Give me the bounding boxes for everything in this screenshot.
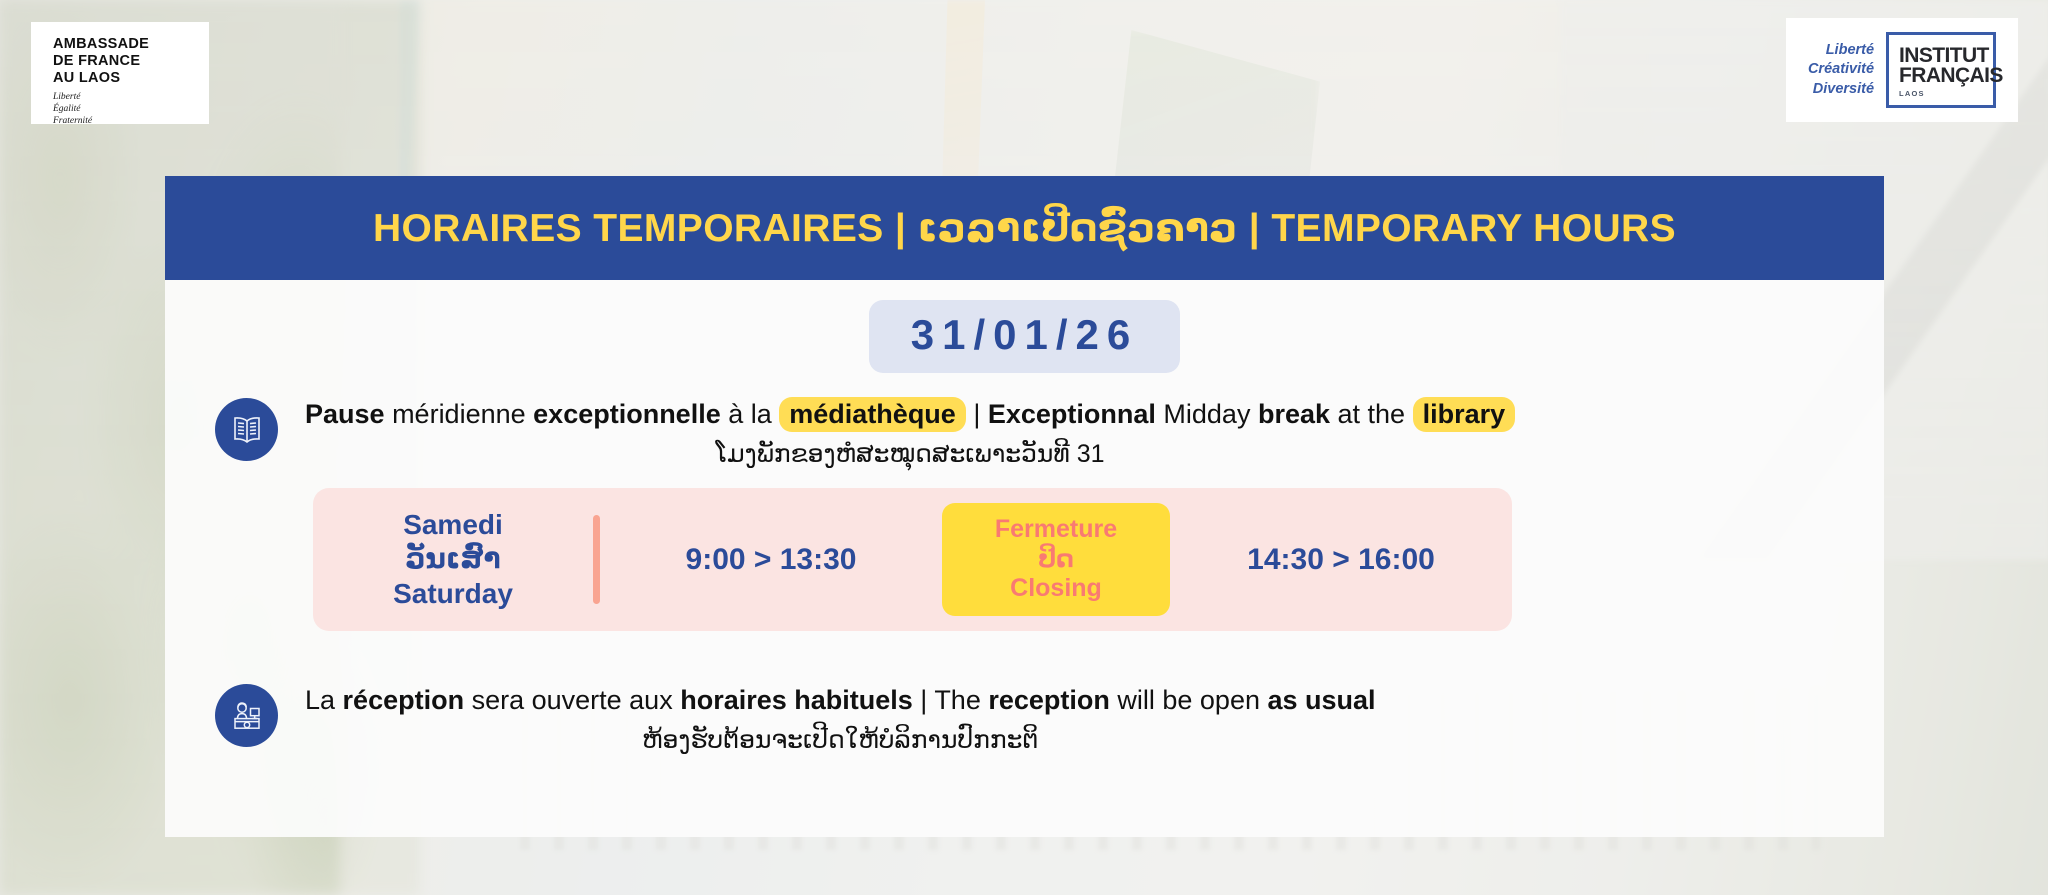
schedule-closing-badge: Fermeture ປິດ Closing bbox=[942, 503, 1170, 616]
institut-francais-logo: Liberté Créativité Diversité INSTITUT FR… bbox=[1786, 18, 2018, 122]
reception-fr-text-1: La bbox=[305, 685, 343, 715]
library-fr-text-2: méridienne bbox=[385, 399, 534, 429]
announcement-poster: AMBASSADE DE FRANCE AU LAOS Liberté Égal… bbox=[0, 0, 2048, 895]
library-en-bold-1: Exceptionnal bbox=[988, 399, 1156, 429]
date-row: 31/01/26 bbox=[165, 300, 1884, 373]
reception-lao-line: ຫ້ອງຮັບຕ້ອນຈະເປີດໃຫ້ບໍລິການປົກກະຕິ bbox=[305, 725, 1376, 756]
library-text-block: Pause méridienne exceptionnelle à la méd… bbox=[305, 398, 1515, 470]
reception-main-line: La réception sera ouverte aux horaires h… bbox=[305, 684, 1376, 717]
reception-fr-bold-4: horaires habituels bbox=[680, 685, 913, 715]
reception-desk-icon bbox=[215, 684, 278, 747]
library-lao-line: ໂມງພັກຂອງຫໍສະໝຸດສະເພາະວັນທີ 31 bbox=[305, 439, 1515, 470]
reception-en-bold-2: reception bbox=[988, 685, 1110, 715]
schedule-bar: Samedi ວັນເສົາ Saturday 9:00 > 13:30 Fer… bbox=[313, 488, 1512, 631]
reception-en-bold-4: as usual bbox=[1267, 685, 1375, 715]
institut-motto: Liberté Créativité Diversité bbox=[1808, 41, 1874, 98]
library-fr-bold-3: exceptionnelle bbox=[533, 399, 721, 429]
embassy-logo: AMBASSADE DE FRANCE AU LAOS Liberté Égal… bbox=[31, 22, 209, 124]
schedule-day-label: Samedi ວັນເສົາ Saturday bbox=[313, 508, 593, 610]
reception-text-block: La réception sera ouverte aux horaires h… bbox=[305, 684, 1376, 756]
library-fr-bold-1: Pause bbox=[305, 399, 385, 429]
banner: HORAIRES TEMPORAIRES | ເວລາເປີດຊົ່ວຄາວ |… bbox=[165, 176, 1884, 280]
library-highlight-mediatheque: médiathèque bbox=[779, 397, 966, 432]
institut-logo-box: INSTITUT FRANÇAIS LAOS bbox=[1886, 32, 1996, 108]
reception-fr-text-3: sera ouverte aux bbox=[464, 685, 680, 715]
banner-title: HORAIRES TEMPORAIRES | ເວລາເປີດຊົ່ວຄາວ |… bbox=[373, 206, 1676, 251]
reception-section: La réception sera ouverte aux horaires h… bbox=[215, 684, 1376, 756]
library-separator: | bbox=[966, 399, 988, 429]
date-badge: 31/01/26 bbox=[869, 300, 1181, 373]
library-highlight-library: library bbox=[1413, 397, 1516, 432]
reception-separator: | bbox=[913, 685, 935, 715]
library-en-bold-3: break bbox=[1258, 399, 1330, 429]
library-en-text-4: at the bbox=[1330, 399, 1413, 429]
library-fr-text-4: à la bbox=[721, 399, 780, 429]
embassy-logo-motto: Liberté Égalité Fraternité bbox=[53, 92, 92, 128]
institut-country: LAOS bbox=[1899, 89, 1983, 98]
reception-fr-bold-2: réception bbox=[343, 685, 465, 715]
reception-en-text-3: will be open bbox=[1110, 685, 1268, 715]
embassy-logo-title: AMBASSADE DE FRANCE AU LAOS bbox=[53, 36, 149, 87]
schedule-slot-morning: 9:00 > 13:30 bbox=[600, 543, 942, 577]
library-main-line: Pause méridienne exceptionnelle à la méd… bbox=[305, 398, 1515, 431]
library-en-text-2: Midday bbox=[1156, 399, 1258, 429]
institut-name-line1: INSTITUT bbox=[1899, 46, 1983, 65]
library-section: Pause méridienne exceptionnelle à la méd… bbox=[215, 398, 1515, 470]
open-book-icon bbox=[215, 398, 278, 461]
schedule-slot-afternoon: 14:30 > 16:00 bbox=[1170, 543, 1512, 577]
schedule-divider bbox=[593, 515, 600, 604]
institut-name-line2: FRANÇAIS bbox=[1899, 66, 1983, 85]
reception-en-text-1: The bbox=[934, 685, 988, 715]
